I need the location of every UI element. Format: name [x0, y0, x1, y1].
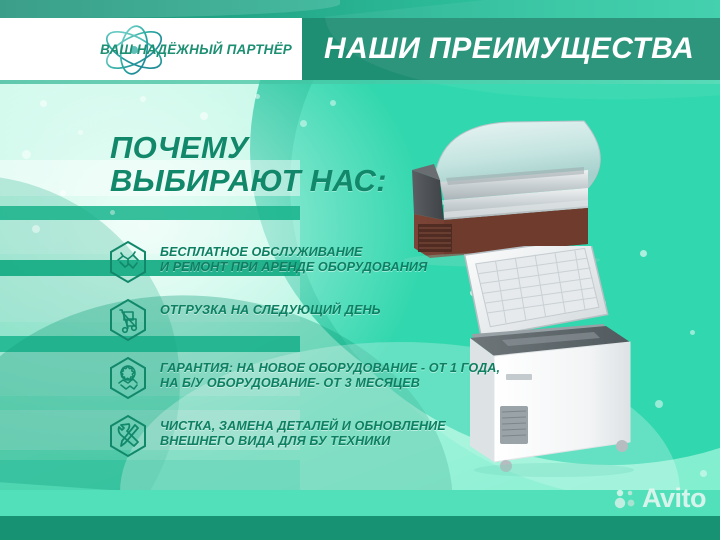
heading-line-1: ПОЧЕМУ: [110, 131, 387, 164]
avito-dots-icon: [613, 487, 637, 511]
list-item[interactable]: БЕСПЛАТНОЕ ОБСЛУЖИВАНИЕ И РЕМОНТ ПРИ АРЕ…: [108, 240, 528, 284]
list-item-label: ОТГРУЗКА НА СЛЕДУЮЩИЙ ДЕНЬ: [160, 298, 381, 318]
list-item[interactable]: ГАРАНТИЯ: НА НОВОЕ ОБОРУДОВАНИЕ - ОТ 1 Г…: [108, 356, 528, 400]
main-heading: ПОЧЕМУ ВЫБИРАЮТ НАС:: [110, 131, 387, 198]
list-item-label: ГАРАНТИЯ: НА НОВОЕ ОБОРУДОВАНИЕ - ОТ 1 Г…: [160, 356, 500, 392]
footer-dark-band: [0, 516, 720, 540]
list-item[interactable]: ЧИСТКА, ЗАМЕНА ДЕТАЛЕЙ И ОБНОВЛЕНИЕ ВНЕШ…: [108, 414, 528, 458]
page-title: НАШИ ПРЕИМУЩЕСТВА: [324, 32, 694, 66]
header-bar: ВАШ НАДЁЖНЫЙ ПАРТНЁР НАШИ ПРЕИМУЩЕСТВА: [0, 18, 720, 80]
avito-wordmark: Avito: [642, 485, 706, 512]
wrench-screwdriver-hexagon-icon: [108, 414, 148, 458]
handshake-hexagon-icon: [108, 240, 148, 284]
advantages-list: БЕСПЛАТНОЕ ОБСЛУЖИВАНИЕ И РЕМОНТ ПРИ АРЕ…: [108, 240, 528, 472]
logo-text: ВАШ НАДЁЖНЫЙ ПАРТНЁР: [100, 42, 292, 57]
list-item-label: ЧИСТКА, ЗАМЕНА ДЕТАЛЕЙ И ОБНОВЛЕНИЕ ВНЕШ…: [160, 414, 446, 450]
warranty-badge-hexagon-icon: [108, 356, 148, 400]
list-item-label: БЕСПЛАТНОЕ ОБСЛУЖИВАНИЕ И РЕМОНТ ПРИ АРЕ…: [160, 240, 427, 276]
heading-line-2: ВЫБИРАЮТ НАС:: [110, 164, 387, 197]
avito-watermark: Avito: [613, 485, 706, 512]
hand-truck-hexagon-icon: [108, 298, 148, 342]
footer-light-band: [0, 490, 720, 516]
logo-container[interactable]: ВАШ НАДЁЖНЫЙ ПАРТНЁР: [0, 18, 302, 80]
header-underline: [0, 80, 720, 84]
list-item[interactable]: ОТГРУЗКА НА СЛЕДУЮЩИЙ ДЕНЬ: [108, 298, 528, 342]
advantages-poster: ВАШ НАДЁЖНЫЙ ПАРТНЁР НАШИ ПРЕИМУЩЕСТВА П…: [0, 0, 720, 540]
